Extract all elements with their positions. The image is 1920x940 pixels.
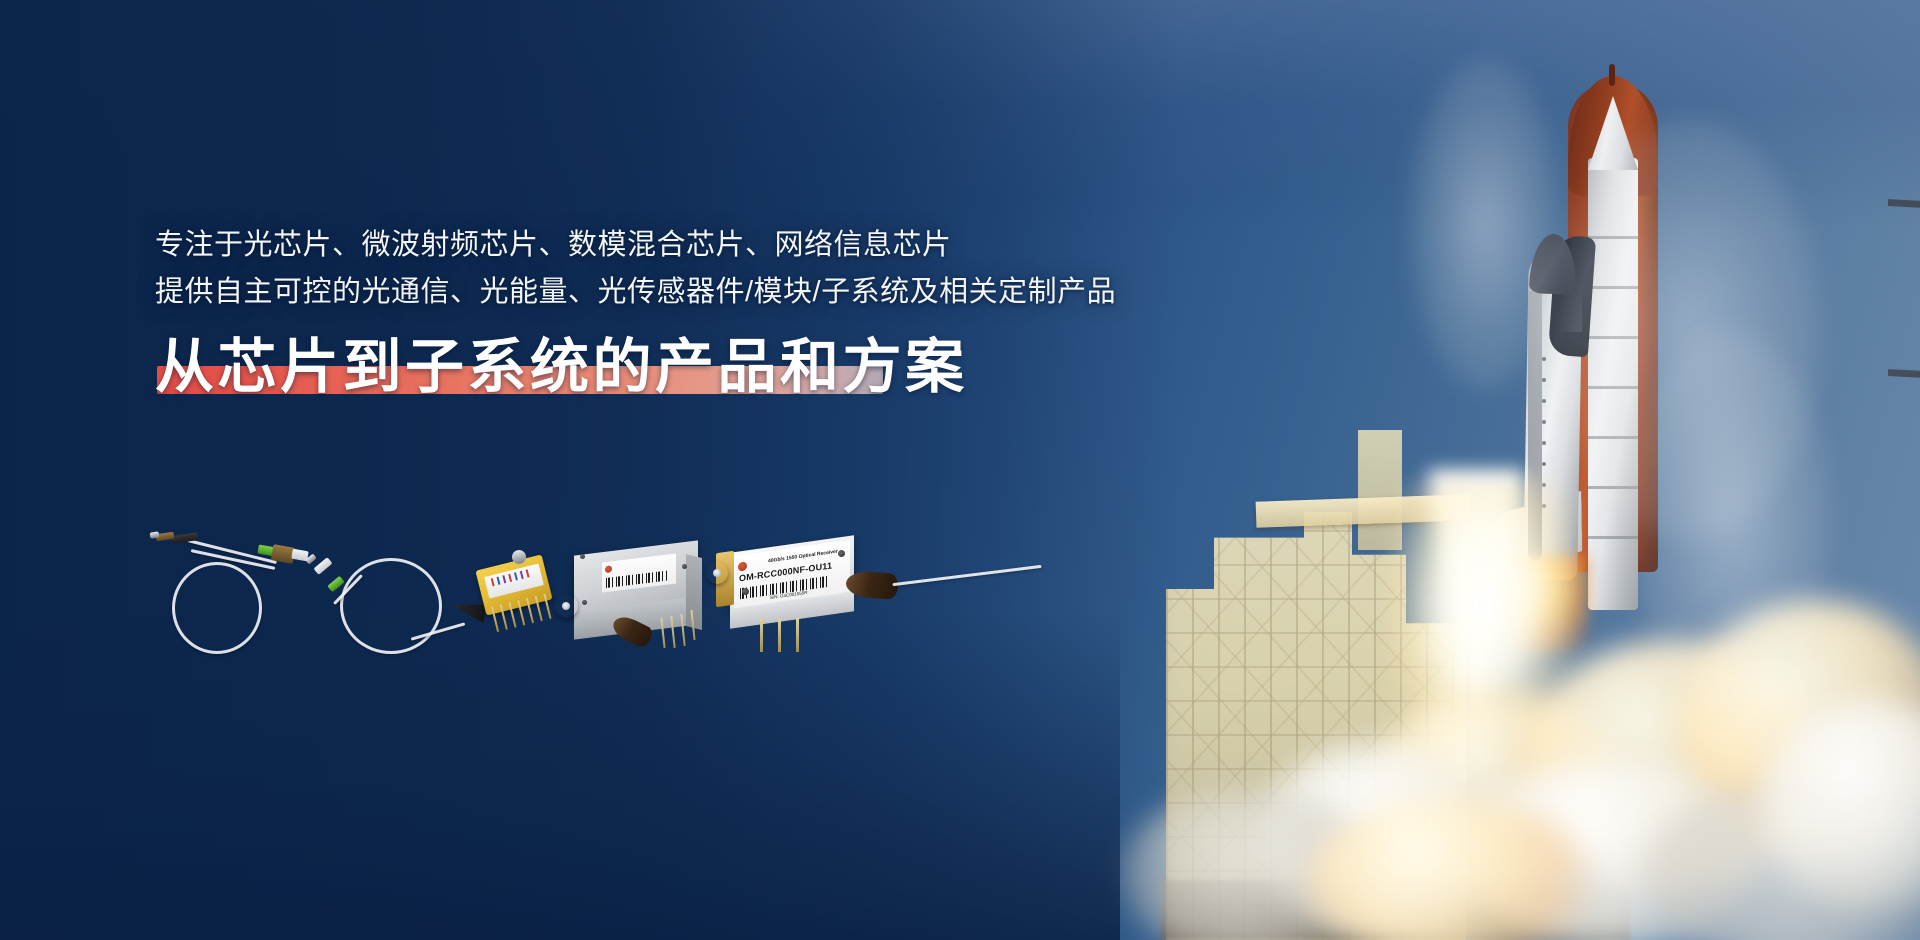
optical-receiver-module: 40Gb/s 1550 Optical Receiver OM-RCC000NF… [720, 528, 1050, 678]
housing-screw [838, 550, 845, 557]
module-side-face [686, 554, 702, 630]
space-shuttle-launch-scene [1160, 0, 1920, 940]
tank-attach-strut [1888, 199, 1920, 208]
housing-screw [682, 564, 687, 569]
connector-tip [150, 531, 160, 538]
headline-wrapper: 从芯片到子系统的产品和方案 [155, 336, 968, 400]
smoke-wisp [1630, 330, 1830, 710]
fiber-loop [340, 558, 442, 654]
hero-copy-block: 专注于光芯片、微波射频芯片、数模混合芯片、网络信息芯片 提供自主可控的光通信、光… [155, 222, 1155, 400]
subtitle-line-2: 提供自主可控的光通信、光能量、光传感器件/模块/子系统及相关定制产品 [155, 269, 1155, 316]
banner-stage: 专注于光芯片、微波射频芯片、数模混合芯片、网络信息芯片 提供自主可控的光通信、光… [0, 0, 1920, 940]
housing-screw [580, 554, 585, 559]
housing-screw [742, 588, 749, 595]
barcode [606, 570, 668, 588]
receiver-pin [778, 618, 781, 652]
connector-body [314, 557, 333, 575]
product-showcase-row: 40Gb/s 1550 Optical Receiver OM-RCC000NF… [150, 520, 1160, 680]
receiver-pin [796, 618, 799, 652]
fiber-pigtail-assembly-1 [150, 520, 310, 660]
external-tank-tip [1609, 64, 1615, 86]
sma-center-pin [562, 602, 570, 610]
brand-logo-icon [605, 565, 612, 573]
receiver-pin [760, 618, 763, 652]
smoke-wisp [1410, 60, 1560, 390]
page-title: 从芯片到子系统的产品和方案 [155, 336, 968, 400]
sma-center-pin [713, 569, 721, 577]
rf-metal-module [550, 534, 730, 674]
fiber-lead [892, 565, 1041, 586]
subtitle-line-1: 专注于光芯片、微波射频芯片、数模混合芯片、网络信息芯片 [155, 222, 1155, 269]
tank-attach-strut [1888, 369, 1920, 378]
housing-screw [582, 600, 587, 605]
brand-logo-icon [738, 561, 747, 571]
fiber-loop [172, 562, 262, 654]
